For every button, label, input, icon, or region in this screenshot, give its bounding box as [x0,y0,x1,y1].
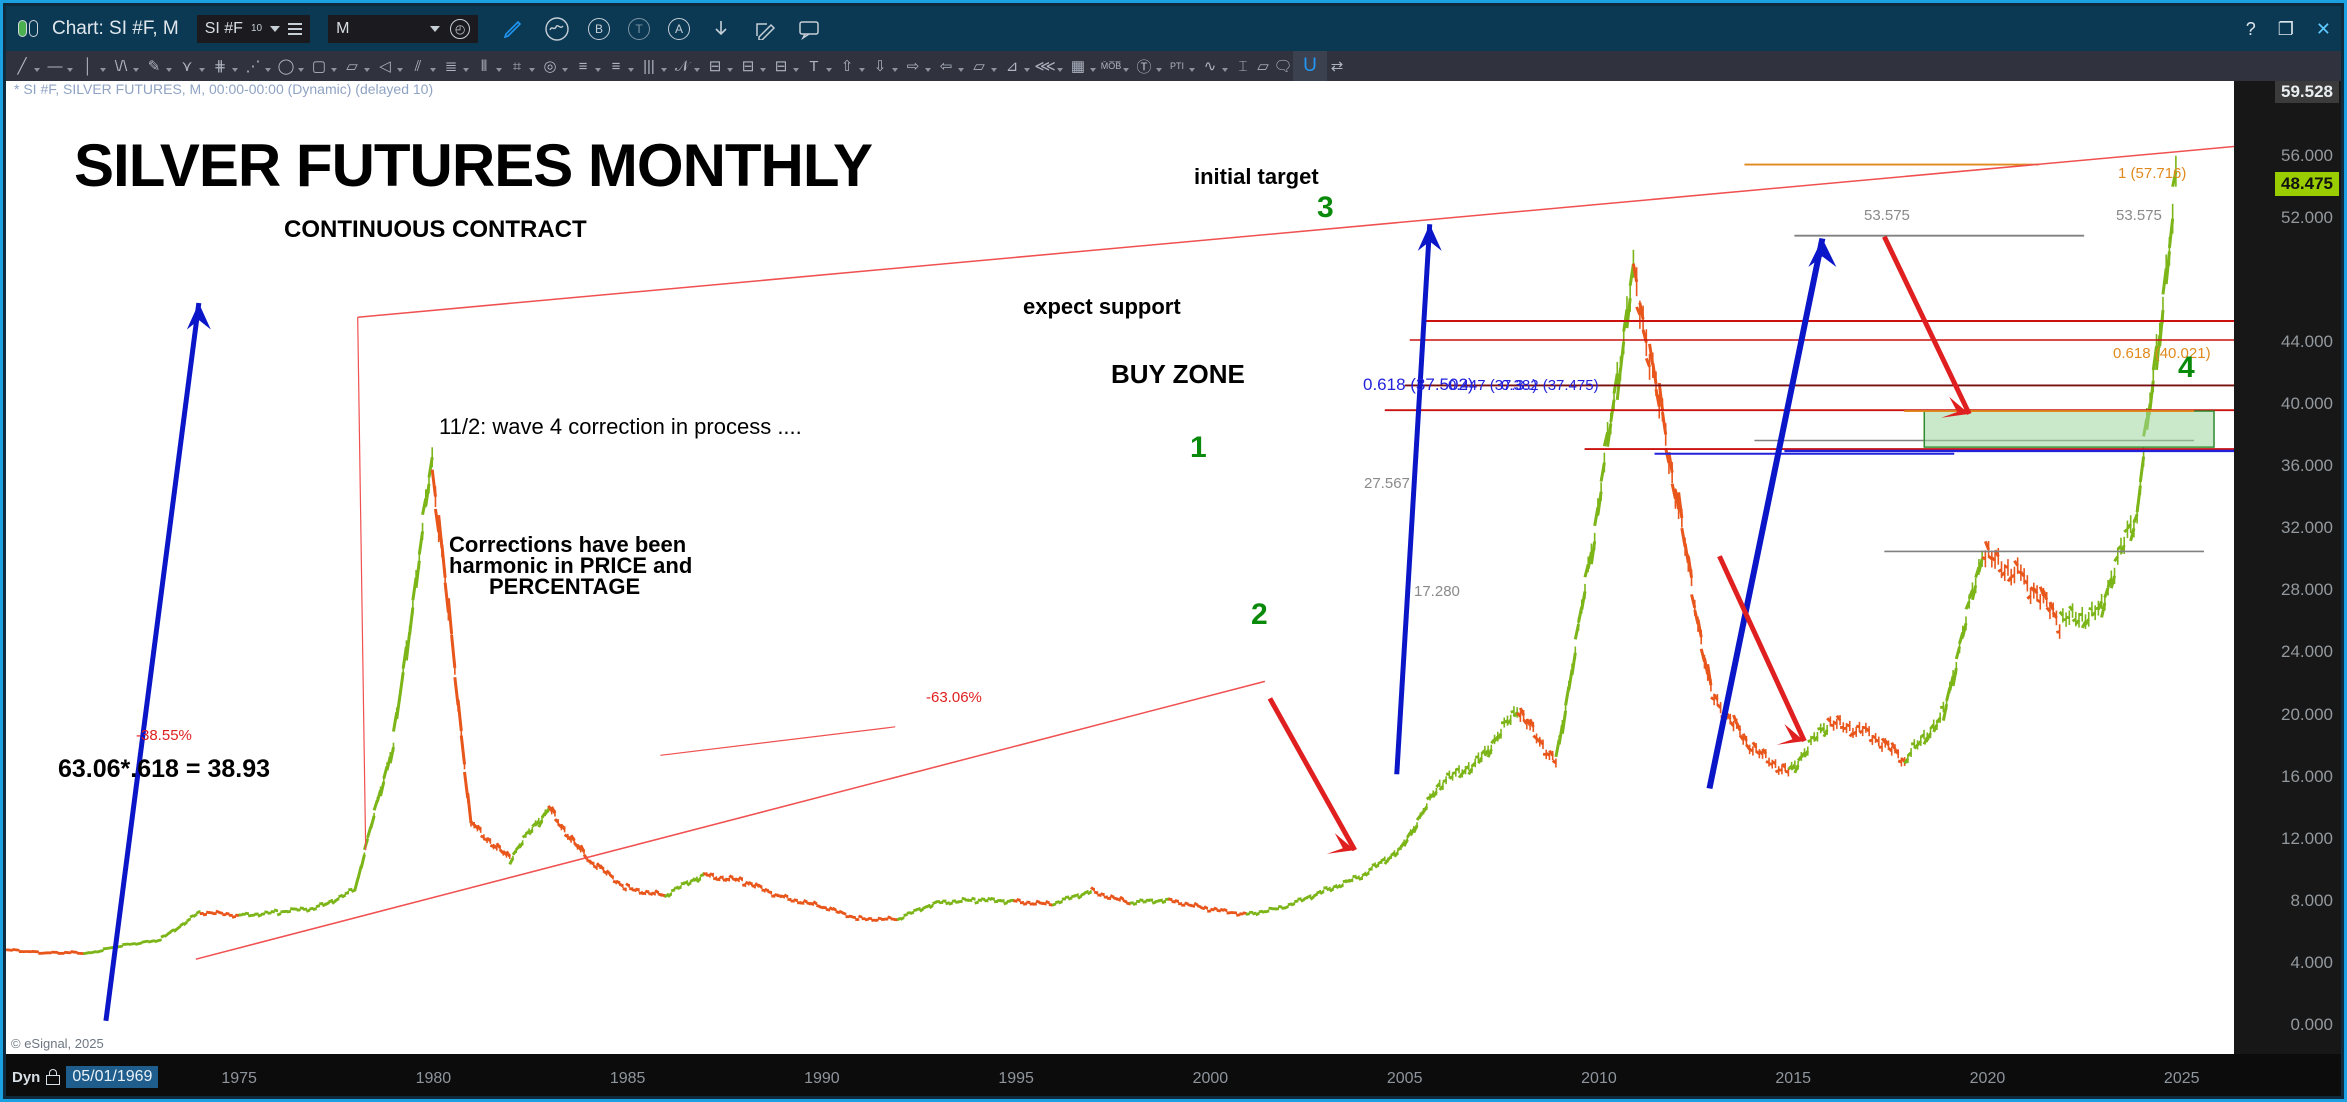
dropdown-caret-icon[interactable] [232,68,238,72]
dropdown-caret-icon[interactable] [331,68,337,72]
dropdown-caret-icon[interactable] [628,68,634,72]
time-tick-1995: 1995 [998,1070,1034,1088]
dropdown-caret-icon[interactable] [1057,68,1063,72]
bar-style-icon[interactable]: B [588,18,610,40]
time-tick-2010: 2010 [1581,1070,1617,1088]
eraser-icon[interactable]: ▱ [1253,55,1273,77]
price-tick-52-000: 52.000 [2281,208,2333,228]
level-17280: 17.280 [1414,583,1460,600]
dropdown-caret-icon[interactable] [1090,68,1096,72]
horizontal-line-icon[interactable]: — [45,55,65,77]
price-tick-20-000: 20.000 [2281,705,2333,725]
title-bar-tools: B T A [500,16,822,42]
dropdown-caret-icon[interactable] [166,68,172,72]
pencil-icon[interactable]: ✎ [144,55,164,77]
elliott-wave-icon[interactable]: 𝒩 [672,55,692,77]
time-tick-1985: 1985 [610,1070,646,1088]
symbol-field[interactable]: SI #F 10 [197,15,310,43]
dropdown-caret-icon[interactable] [661,68,667,72]
price-tick-56-000: 56.000 [2281,146,2333,166]
candle-down-icon [29,20,38,37]
initial-target-label: initial target [1194,164,1319,190]
magnet-icon[interactable]: U [1293,51,1327,81]
dropdown-caret-icon[interactable] [727,68,733,72]
zigzag-icon[interactable]: \/\ [111,55,131,77]
wave-label-2: 2 [1251,598,1268,632]
ellipse-icon[interactable]: ◯ [276,55,296,77]
dropdown-caret-icon[interactable] [133,68,139,72]
dropdown-caret-icon[interactable] [826,68,832,72]
price-axis-current-value: 48.475 [2275,172,2339,196]
level-53575-a: 53.575 [1864,207,1910,224]
chart-sub-header: * SI #F, SILVER FUTURES, M, 00:00-00:00 … [6,81,2341,101]
down-arrow-icon[interactable]: ⇩ [870,55,890,77]
price-tick-0-000: 0.000 [2290,1015,2333,1035]
dropdown-caret-icon[interactable] [595,68,601,72]
dropdown-caret-icon[interactable] [100,68,106,72]
dropdown-caret-icon[interactable] [892,68,898,72]
left-arrow-icon[interactable]: ⇦ [936,55,956,77]
time-tick-1980: 1980 [416,1070,452,1088]
price-tick-44-000: 44.000 [2281,332,2333,352]
dropdown-caret-icon[interactable] [1189,68,1195,72]
dyn-label: Dyn [12,1069,40,1086]
buy-zone-label: BUY ZONE [1111,359,1245,390]
time-axis[interactable]: Dyn 05/01/1969 1975198019851990199520002… [6,1054,2341,1096]
dropdown-caret-icon[interactable] [298,68,304,72]
fan-lines-icon[interactable]: ⋰ [243,55,263,77]
arrow-marker-icon[interactable]: ⋘ [1035,55,1055,77]
dropdown-caret-icon[interactable] [1222,68,1228,72]
fib-1-label: 1 (57.716) [2118,165,2186,182]
interval-field[interactable]: M ◴ [328,15,478,43]
chart-type-icon [18,20,38,37]
dropdown-caret-icon[interactable] [562,68,568,72]
time-tick-2025: 2025 [2164,1070,2200,1088]
chevron-down-icon[interactable] [270,26,280,32]
dropdown-caret-icon[interactable] [34,68,40,72]
bullseye-icon[interactable]: ◎ [540,55,560,77]
price-axis-top-value: 59.528 [2275,81,2339,103]
chart-plot-area[interactable]: SILVER FUTURES MONTHLY CONTINUOUS CONTRA… [6,101,2234,1036]
time-tick-2005: 2005 [1387,1070,1423,1088]
dropdown-caret-icon[interactable] [463,68,469,72]
dropdown-caret-icon[interactable] [67,68,73,72]
up-arrow-icon[interactable]: ⇧ [837,55,857,77]
candle-up-icon [18,20,27,37]
rect-mid-icon[interactable]: ⊟ [738,55,758,77]
chart-title-annotation: SILVER FUTURES MONTHLY [74,131,872,200]
dropdown-caret-icon[interactable] [529,68,535,72]
gann-box-icon[interactable]: ⌗ [507,55,527,77]
alerts-icon[interactable]: A [668,18,690,40]
edit-note-icon[interactable] [752,16,778,42]
date-badge: 05/01/1969 [66,1066,158,1088]
dropdown-caret-icon[interactable] [694,68,700,72]
price-tick-32-000: 32.000 [2281,518,2333,538]
help-icon[interactable]: ? [2246,20,2256,38]
tj-icon[interactable]: Ⓣ [1134,55,1154,77]
indicator-icon[interactable] [544,16,570,42]
right-arrow-icon[interactable]: ⇨ [903,55,923,77]
settings-icon[interactable]: ⇄ [1327,55,1347,77]
fib-0618-40-label: 0.618 (40.021) [2113,345,2211,362]
pencil-icon[interactable] [500,16,526,42]
menu-icon[interactable] [288,23,302,35]
clock-icon[interactable]: ◴ [450,19,470,39]
cycle-icon[interactable]: ∿ [1200,55,1220,77]
time-tick-2015: 2015 [1775,1070,1811,1088]
comment-icon[interactable] [796,16,822,42]
close-icon[interactable]: ✕ [2316,20,2331,38]
comment-icon[interactable]: 🗨 [1273,55,1293,77]
wave-label-4: 4 [2178,351,2195,385]
dyn-control[interactable]: Dyn 05/01/1969 [12,1066,158,1088]
price-tick-16-000: 16.000 [2281,767,2333,787]
application-window: Chart: SI #F, M SI #F 10 M ◴ B T A [0,0,2347,1102]
price-axis[interactable]: 59.528 48.475 56.00052.00044.00040.00036… [2234,81,2341,1054]
price-tick-28-000: 28.000 [2281,580,2333,600]
time-tick-2020: 2020 [1970,1070,2006,1088]
time-template-icon[interactable]: T [628,18,650,40]
price-tick-12-000: 12.000 [2281,829,2333,849]
window-controls: ? ❐ ✕ [2246,6,2331,51]
chevron-down-icon[interactable] [430,26,440,32]
time-tick-2000: 2000 [1193,1070,1229,1088]
fib-retracement-icon[interactable]: ≣ [441,55,461,77]
gann-angle-icon[interactable]: ⊿ [1002,55,1022,77]
price-tick-40-000: 40.000 [2281,394,2333,414]
price-tick-36-000: 36.000 [2281,456,2333,476]
horizontal-bands-icon[interactable]: ≡ [573,55,593,77]
price-tick-24-000: 24.000 [2281,642,2333,662]
dropdown-caret-icon[interactable] [859,68,865,72]
chart-subtitle-annotation: CONTINUOUS CONTRACT [284,216,587,244]
fib-timezone-icon[interactable]: ⦀ [474,55,494,77]
dropdown-caret-icon[interactable] [265,68,271,72]
text-icon[interactable]: T [804,55,824,77]
measure-icon[interactable]: ⌶ [1233,55,1253,77]
symbol-superscript: 10 [251,23,262,34]
rect-bottom-icon[interactable]: ⊟ [771,55,791,77]
dropdown-caret-icon[interactable] [1123,68,1129,72]
wave4-note: 11/2: wave 4 correction in process .... [439,414,802,440]
speed-lines-icon[interactable]: ⋕ [210,55,230,77]
fib-0382-label: 0.382 (37.475) [1501,377,1599,394]
dropdown-caret-icon[interactable] [793,68,799,72]
vertical-bands-icon[interactable]: ||| [639,55,659,77]
trendline-icon[interactable]: ╱ [12,55,32,77]
triangle-icon[interactable]: ◁ [375,55,395,77]
level-53575-b: 53.575 [2116,207,2162,224]
pti-icon[interactable]: PTI [1167,55,1187,77]
vertical-line-icon[interactable]: │ [78,55,98,77]
andrews-pitchfork-icon[interactable]: ⋎ [177,55,197,77]
dropdown-caret-icon[interactable] [958,68,964,72]
level-27567: 27.567 [1364,475,1410,492]
expect-support-label: expect support [1023,294,1181,320]
dropdown-caret-icon[interactable] [430,68,436,72]
dropdown-caret-icon[interactable] [1156,68,1162,72]
window-restore-icon[interactable]: ❐ [2278,20,2294,38]
grid-icon[interactable]: ▦ [1068,55,1088,77]
save-arrow-icon[interactable] [708,16,734,42]
parallel-channel-icon[interactable]: ⫽ [408,55,428,77]
dropdown-caret-icon[interactable] [364,68,370,72]
rect-top-icon[interactable]: ⊟ [705,55,725,77]
title-bar: Chart: SI #F, M SI #F 10 M ◴ B T A [6,6,2341,51]
window-title: Chart: SI #F, M [52,18,179,40]
dropdown-caret-icon[interactable] [496,68,502,72]
pct-38-label: -38.55% [136,727,192,744]
wave-label-1: 1 [1190,431,1207,465]
chart-panel: * SI #F, SILVER FUTURES, M, 00:00-00:00 … [6,81,2341,1054]
price-tick-4-000: 4.000 [2290,953,2333,973]
harmonic-note-line3: PERCENTAGE [489,574,640,600]
symbol-value: SI #F [205,20,243,38]
dropdown-caret-icon[interactable] [397,68,403,72]
pct-63-label: -63.06% [926,689,982,706]
dropdown-caret-icon[interactable] [760,68,766,72]
interval-value: M [336,20,349,38]
parallelogram-icon[interactable]: ▱ [342,55,362,77]
mob-icon[interactable]: M̄O̅B̅ [1101,55,1121,77]
copyright-label: © eSignal, 2025 [11,1036,104,1051]
drawing-toolbar: ╱—│\/\✎⋎⋕⋰◯▢▱◁⫽≣⦀⌗◎≡≡|||𝒩⊟⊟⊟T⇧⇩⇨⇦▱⊿⋘▦M̄O… [6,51,2341,81]
time-tick-1975: 1975 [221,1070,257,1088]
rectangle-icon[interactable]: ▢ [309,55,329,77]
balloon-icon[interactable]: ▱ [969,55,989,77]
support-resistance-icon[interactable]: ≡ [606,55,626,77]
dropdown-caret-icon[interactable] [991,68,997,72]
dropdown-caret-icon[interactable] [199,68,205,72]
time-tick-1990: 1990 [804,1070,840,1088]
lock-icon[interactable] [46,1069,60,1085]
wave-label-3: 3 [1317,191,1334,225]
dropdown-caret-icon[interactable] [925,68,931,72]
dropdown-caret-icon[interactable] [1024,68,1030,72]
price-tick-8-000: 8.000 [2290,891,2333,911]
math-note: 63.06*.618 = 38.93 [58,755,270,784]
